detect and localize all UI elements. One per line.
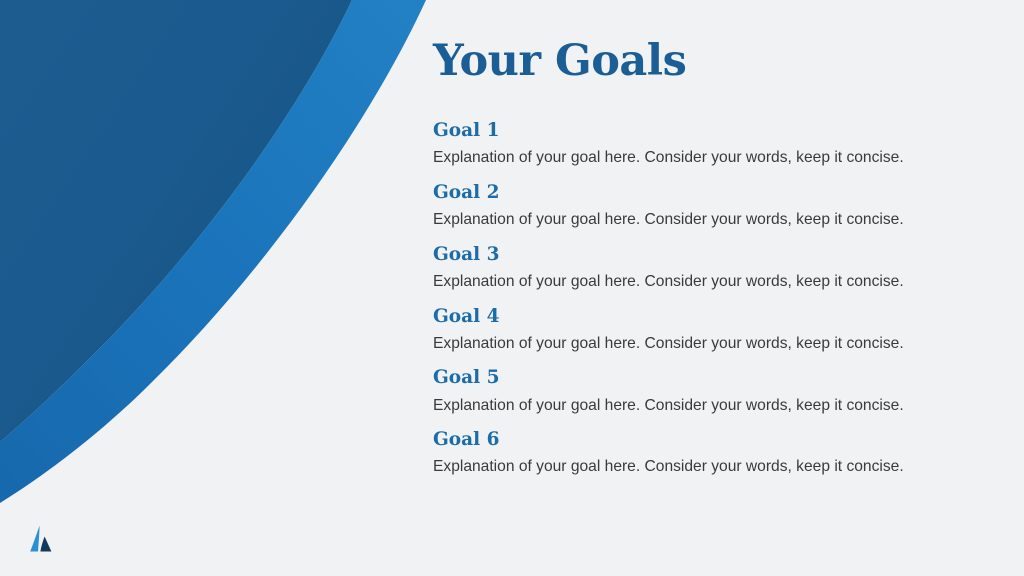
goal-item: Goal 5 Explanation of your goal here. Co… (433, 367, 978, 415)
goal-heading: Goal 3 (433, 244, 978, 266)
goal-heading: Goal 2 (433, 182, 978, 204)
goal-description: Explanation of your goal here. Consider … (433, 334, 978, 353)
goal-description: Explanation of your goal here. Consider … (433, 210, 978, 229)
decor-shape-back (0, 0, 352, 442)
goal-item: Goal 3 Explanation of your goal here. Co… (433, 244, 978, 292)
logo-left-blade (30, 526, 39, 552)
slide: Your Goals Goal 1 Explanation of your go… (0, 0, 1024, 576)
goal-item: Goal 4 Explanation of your goal here. Co… (433, 306, 978, 354)
goal-description: Explanation of your goal here. Consider … (433, 272, 978, 291)
goal-description: Explanation of your goal here. Consider … (433, 148, 978, 167)
goal-heading: Goal 4 (433, 306, 978, 328)
goal-description: Explanation of your goal here. Consider … (433, 396, 978, 415)
logo-right-blade (40, 537, 51, 552)
goal-item: Goal 1 Explanation of your goal here. Co… (433, 120, 978, 168)
goal-heading: Goal 5 (433, 367, 978, 389)
logo-icon (27, 524, 55, 554)
goals-list: Goal 1 Explanation of your goal here. Co… (433, 120, 978, 477)
goal-description: Explanation of your goal here. Consider … (433, 457, 978, 476)
page-title: Your Goals (433, 38, 686, 84)
decor-shape-front (0, 0, 426, 503)
goal-item: Goal 6 Explanation of your goal here. Co… (433, 429, 978, 477)
goal-heading: Goal 1 (433, 120, 978, 142)
goal-item: Goal 2 Explanation of your goal here. Co… (433, 182, 978, 230)
goal-heading: Goal 6 (433, 429, 978, 451)
